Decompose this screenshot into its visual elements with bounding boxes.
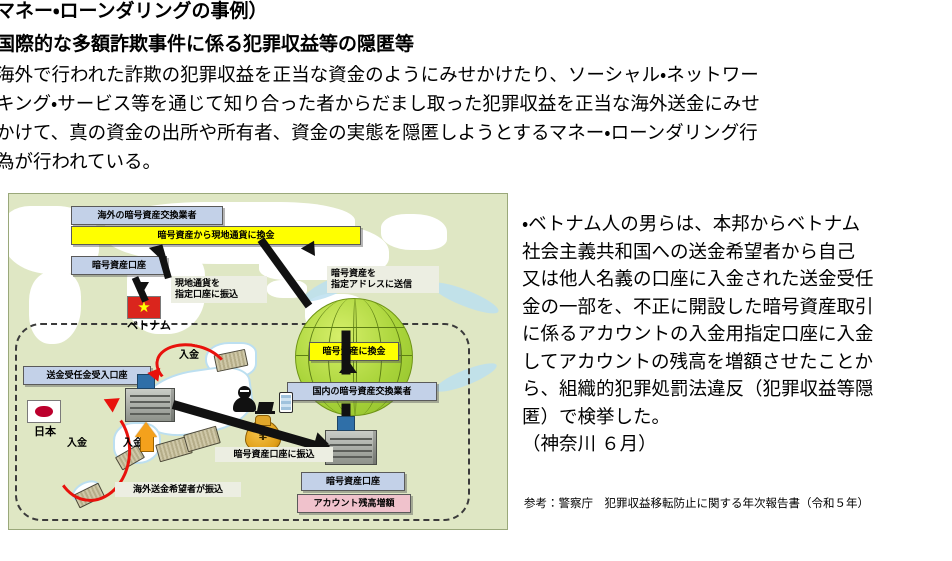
label-vietnam: ベトナム <box>117 320 181 334</box>
label-deposit-left: 入金 <box>67 438 87 451</box>
arrow-head-crypto-account-to-vietnam <box>135 282 149 294</box>
body-line: 海外で行われた詐欺の犯罪収益を正当な資金のようにみせかけたり、ソーシャル・ネット… <box>0 60 952 89</box>
case-line: 金の一部を、不正に開設した暗号資産取引 <box>522 293 952 321</box>
laptop-icon <box>255 402 275 414</box>
server-slot <box>130 401 170 403</box>
bank-server-icon <box>125 388 175 422</box>
header-line-1: マネー・ローンダリングの事例） <box>0 0 952 24</box>
label-account-balance-increase: アカウント残高増額 <box>297 494 411 513</box>
vietnam-flag-star-icon: ★ <box>137 300 150 315</box>
case-line: ら、組織的犯罪処罰法違反（犯罪収益等隠 <box>522 375 952 403</box>
case-description-column: ・ベトナム人の男らは、本邦からベトナム 社会主義共和国への送金希望者から自己 又… <box>522 210 952 458</box>
server-slot <box>130 407 170 409</box>
arrow-head-domestic-exchange-to-globe <box>339 360 357 373</box>
arrow-orange-deposit-up-head <box>135 422 157 437</box>
label-transfer-to-crypto-account: 暗号資産口座に振込 <box>215 447 333 462</box>
japan-flag <box>27 400 61 423</box>
label-crypto-account-overseas: 暗号資産口座 <box>71 256 167 275</box>
smartphone-screen <box>281 395 291 410</box>
server-slot <box>130 413 170 415</box>
case-line: 社会主義共和国への送金希望者から自己 <box>522 238 952 266</box>
laptop-screen <box>257 402 274 411</box>
case-line: 又は他人名義の口座に入金された送金受任 <box>522 265 952 293</box>
body-line: 為が行われている。 <box>0 147 952 176</box>
server-slot <box>330 444 372 446</box>
case-line-location-date: （神奈川 ６月） <box>522 430 952 458</box>
laptop-base <box>255 411 275 414</box>
label-convert-to-crypto: 暗号資産に換金 <box>309 342 399 361</box>
label-domestic-crypto-exchange: 国内の暗号資産交換業者 <box>287 382 437 401</box>
case-line: に係るアカウントの入金用指定口座に入金 <box>522 320 952 348</box>
money-laundering-flow-diagram: 海外の暗号資産交換業者 暗号資産から現地通貨に換金 暗号資産口座 現地通貨を 指… <box>8 193 508 530</box>
body-line: かけて、真の資金の出所や所有者、資金の実態を隠匿しようとするマネー・ローンダリン… <box>0 118 952 147</box>
arrow-orange-deposit-up-stem <box>140 437 154 452</box>
case-line: してアカウントの残高を増額させたことか <box>522 348 952 376</box>
body-paragraph: 海外で行われた詐欺の犯罪収益を正当な資金のようにみせかけたり、ソーシャル・ネット… <box>0 60 952 176</box>
server-slot <box>130 395 170 397</box>
landmass-far-east <box>381 214 447 250</box>
case-line: ・ベトナム人の男らは、本邦からベトナム <box>522 210 952 238</box>
japan-flag-disc-icon <box>35 406 53 418</box>
ocean-swoosh-right <box>429 277 502 319</box>
label-transfer-local-currency-to-designated-account: 現地通貨を 指定口座に振込 <box>171 276 267 303</box>
label-deposit-top: 入金 <box>179 350 199 363</box>
header-line-2: 国際的な多額詐欺事件に係る犯罪収益等の隠匿等 <box>0 32 952 58</box>
document-header: マネー・ローンダリングの事例） 国際的な多額詐欺事件に係る犯罪収益等の隠匿等 <box>0 0 952 58</box>
label-send-crypto-to-designated-address: 暗号資産を 指定アドレスに送信 <box>327 266 439 293</box>
criminal-eyes <box>240 390 249 392</box>
label-overseas-remitter-deposit: 海外送金希望者が振込 <box>115 482 241 497</box>
label-overseas-crypto-exchange: 海外の暗号資産交換業者 <box>71 206 223 225</box>
smartphone-icon <box>279 392 293 413</box>
label-crypto-account-domestic: 暗号資産口座 <box>301 472 405 491</box>
source-reference-note: 参考：警察庁 犯罪収益移転防止に関する年次報告書（令和５年） <box>524 496 952 512</box>
case-line: 匿）で検挙した。 <box>522 403 952 431</box>
server-slot <box>330 438 372 440</box>
label-remittance-receiving-account: 送金受任金受入口座 <box>23 366 151 385</box>
server-slot <box>330 450 372 452</box>
globe-parallel <box>296 327 412 328</box>
server-slot <box>330 456 372 458</box>
criminal-silhouette-icon <box>233 386 257 414</box>
body-line: キング・サービス等を通じて知り合った者からだまし取った犯罪収益を正当な海外送金に… <box>0 89 952 118</box>
criminal-torso <box>233 397 256 412</box>
crypto-server-monitor-icon <box>337 416 355 431</box>
